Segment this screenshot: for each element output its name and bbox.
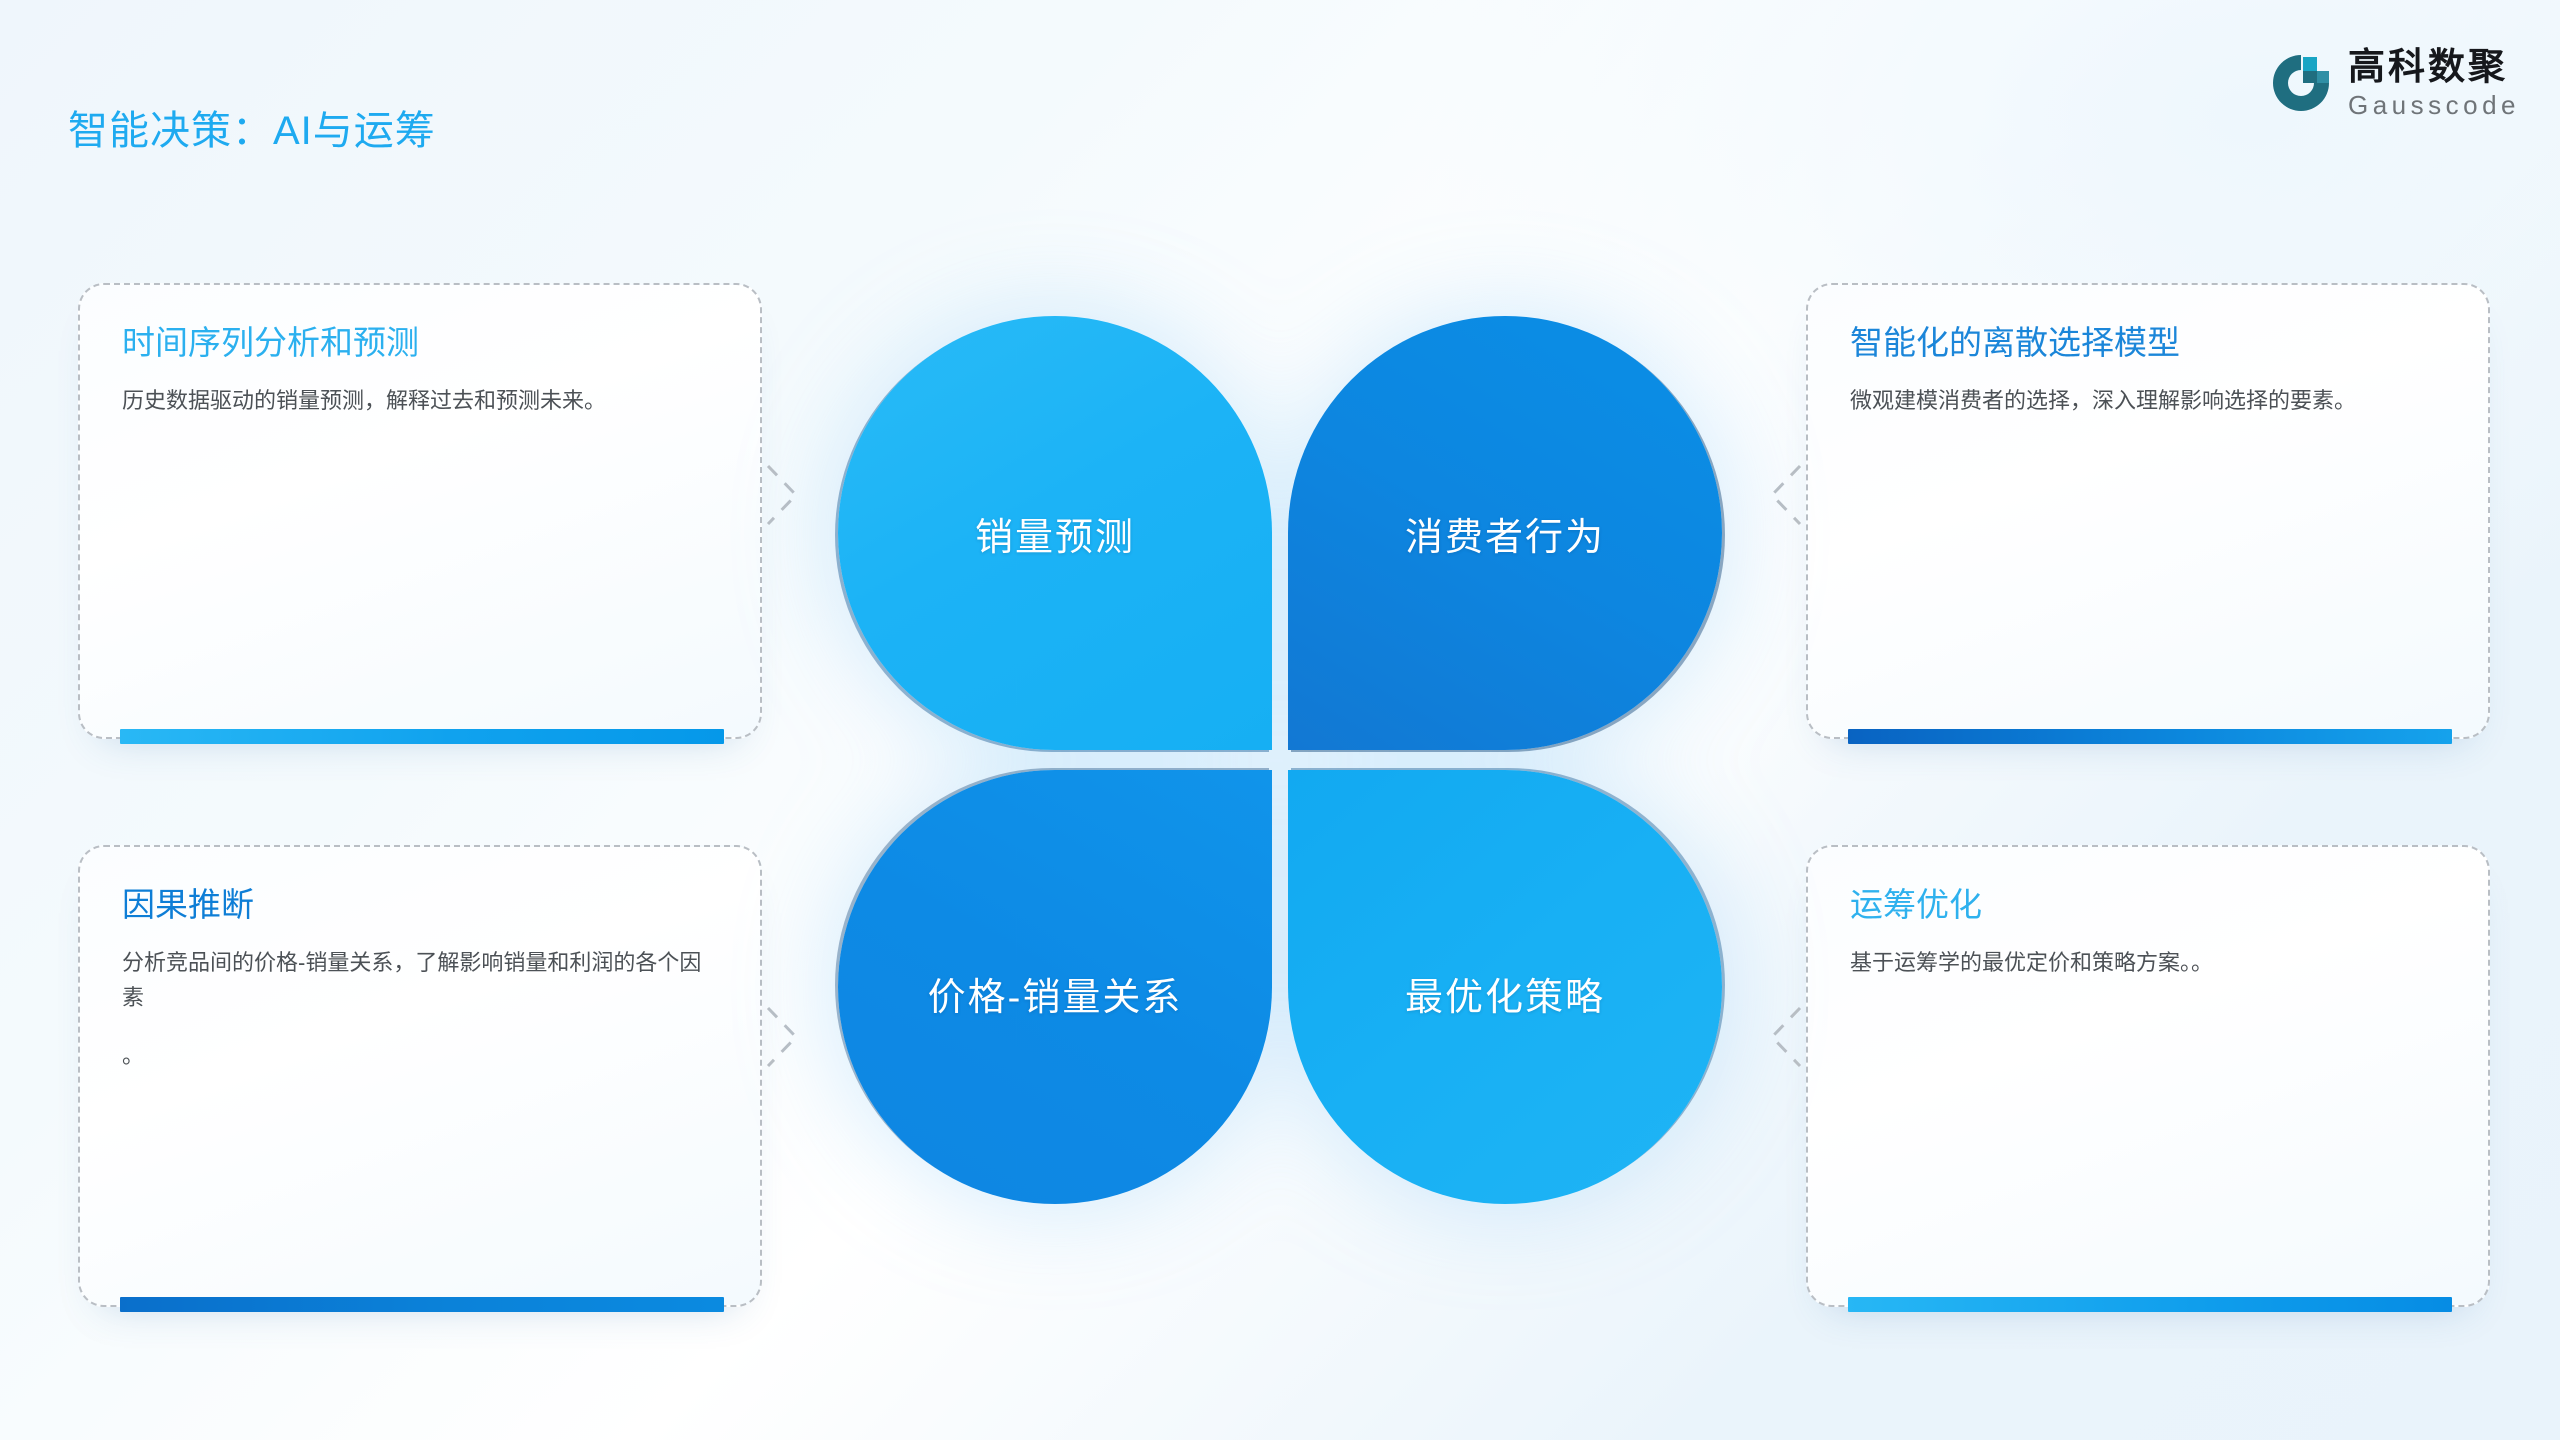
card-discrete-accent-bar <box>1848 729 2452 744</box>
chevron-left-dashed-icon <box>1758 1000 1806 1074</box>
card-timeseries-description: 历史数据驱动的销量预测，解释过去和预测未来。 <box>122 383 720 419</box>
brand-logo: 高科数聚 Gausscode <box>2270 48 2520 118</box>
petal-consumer-behavior[interactable]: 消费者行为 <box>1288 316 1722 750</box>
card-causal-accent-bar <box>120 1297 724 1312</box>
card-causal-title: 因果推断 <box>122 885 720 925</box>
card-optimize-accent-bar <box>1848 1297 2452 1312</box>
card-causal-description-tail: 。 <box>122 1038 720 1074</box>
petal-consumer-behavior-label: 消费者行为 <box>1405 506 1605 561</box>
card-discrete[interactable]: 智能化的离散选择模型 微观建模消费者的选择，深入理解影响选择的要素。 <box>1806 283 2490 739</box>
card-timeseries-content: 时间序列分析和预测 历史数据驱动的销量预测，解释过去和预测未来。 <box>122 323 720 418</box>
chevron-right-dashed-icon <box>762 1000 810 1074</box>
card-optimize-title: 运筹优化 <box>1850 885 2448 925</box>
card-causal[interactable]: 因果推断 分析竞品间的价格-销量关系，了解影响销量和利润的各个因素 。 <box>78 845 762 1307</box>
card-causal-description: 分析竞品间的价格-销量关系，了解影响销量和利润的各个因素 。 <box>122 945 720 1074</box>
gausscode-g-mark-icon <box>2270 52 2332 114</box>
petal-sales-forecast[interactable]: 销量预测 <box>838 316 1272 750</box>
card-optimize[interactable]: 运筹优化 基于运筹学的最优定价和策略方案。。 <box>1806 845 2490 1307</box>
card-timeseries[interactable]: 时间序列分析和预测 历史数据驱动的销量预测，解释过去和预测未来。 <box>78 283 762 739</box>
card-timeseries-title: 时间序列分析和预测 <box>122 323 720 363</box>
petal-price-sales-relation[interactable]: 价格-销量关系 <box>838 770 1272 1204</box>
brand-name-cn: 高科数聚 <box>2348 48 2520 85</box>
page-title: 智能决策：AI与运筹 <box>68 98 436 156</box>
card-causal-content: 因果推断 分析竞品间的价格-销量关系，了解影响销量和利润的各个因素 。 <box>122 885 720 1073</box>
brand-name-en: Gausscode <box>2348 92 2520 118</box>
petal-optimal-strategy-label: 最优化策略 <box>1405 966 1605 1021</box>
card-discrete-title: 智能化的离散选择模型 <box>1850 323 2448 363</box>
petal-sales-forecast-label: 销量预测 <box>975 506 1135 561</box>
clover-diagram: 销量预测 消费者行为 价格-销量关系 最优化策略 <box>838 316 1722 1204</box>
chevron-right-dashed-icon <box>762 458 810 532</box>
petal-optimal-strategy[interactable]: 最优化策略 <box>1288 770 1722 1204</box>
petal-price-sales-relation-label: 价格-销量关系 <box>928 966 1183 1021</box>
card-causal-description-main: 分析竞品间的价格-销量关系，了解影响销量和利润的各个因素 <box>122 950 701 1011</box>
card-discrete-content: 智能化的离散选择模型 微观建模消费者的选择，深入理解影响选择的要素。 <box>1850 323 2448 418</box>
card-optimize-content: 运筹优化 基于运筹学的最优定价和策略方案。。 <box>1850 885 2448 980</box>
brand-text: 高科数聚 Gausscode <box>2348 48 2520 118</box>
card-optimize-description: 基于运筹学的最优定价和策略方案。。 <box>1850 945 2448 981</box>
card-discrete-description: 微观建模消费者的选择，深入理解影响选择的要素。 <box>1850 383 2448 419</box>
chevron-left-dashed-icon <box>1758 458 1806 532</box>
card-timeseries-accent-bar <box>120 729 724 744</box>
